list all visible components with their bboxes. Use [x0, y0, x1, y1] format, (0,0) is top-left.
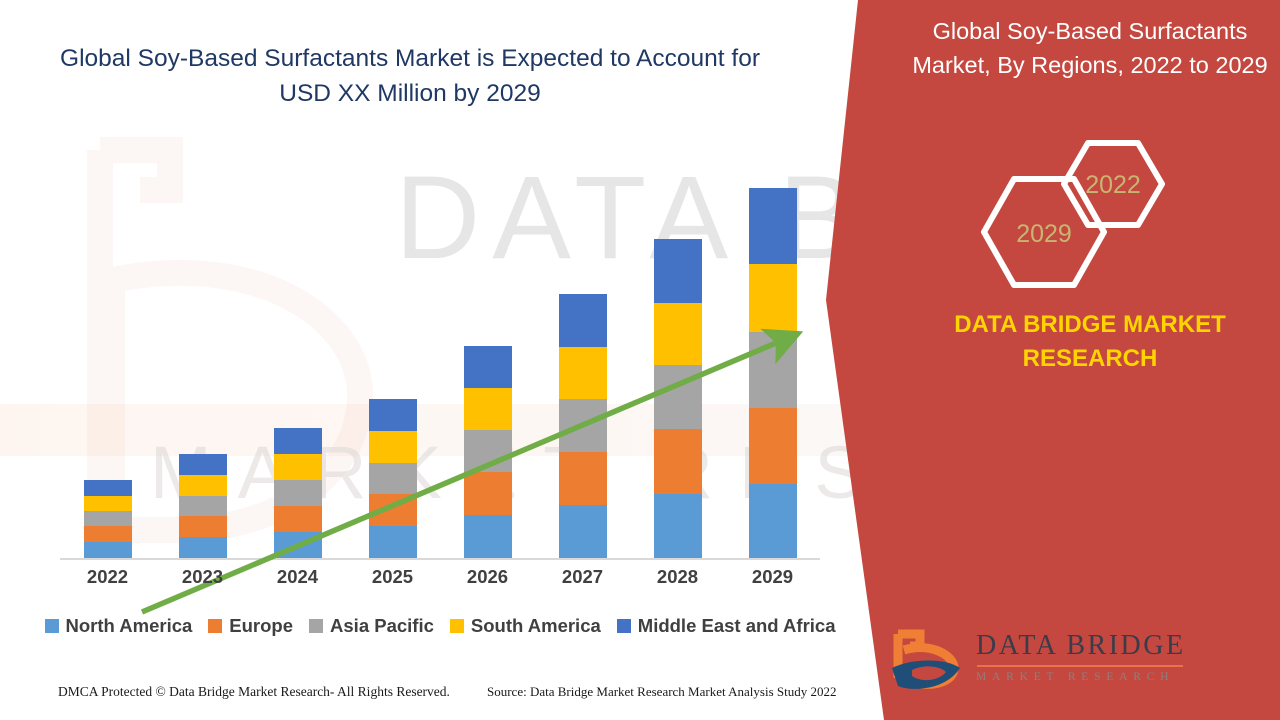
hex-2029-label: 2029 [1016, 220, 1072, 248]
legend-item[interactable]: Middle East and Africa [617, 615, 836, 637]
plot-area [60, 150, 820, 560]
x-label-2024: 2024 [250, 566, 346, 588]
x-label-2023: 2023 [155, 566, 251, 588]
footer: DMCA Protected © Data Bridge Market Rese… [0, 684, 880, 710]
legend-label: Asia Pacific [330, 615, 434, 637]
legend-label: South America [471, 615, 601, 637]
x-label-2027: 2027 [535, 566, 631, 588]
hex-2022-label: 2022 [1085, 171, 1141, 199]
hexagon-badges: 2022 2029 [970, 135, 1190, 300]
x-label-2026: 2026 [440, 566, 536, 588]
legend-item[interactable]: Asia Pacific [309, 615, 434, 637]
legend-item[interactable]: South America [450, 615, 601, 637]
chart-legend: North AmericaEuropeAsia PacificSouth Ame… [0, 615, 880, 637]
legend-item[interactable]: Europe [208, 615, 293, 637]
bar-segment[interactable] [749, 188, 797, 264]
logo-subtitle: MARKET RESEARCH [976, 671, 1186, 683]
growth-arrow-icon [120, 300, 880, 710]
legend-swatch [45, 619, 59, 633]
legend-swatch [309, 619, 323, 633]
company-logo: DATA BRIDGE MARKET RESEARCH [890, 628, 1250, 700]
bar-segment[interactable] [654, 239, 702, 303]
chart-panel: DATA BRIDGE MARKET RESEARCH Global Soy-B… [0, 0, 880, 720]
x-label-2025: 2025 [345, 566, 441, 588]
x-axis-labels: 20222023202420252026202720282029 [60, 566, 820, 596]
legend-swatch [450, 619, 464, 633]
legend-label: Europe [229, 615, 293, 637]
source-note: Source: Data Bridge Market Research Mark… [487, 684, 836, 700]
legend-swatch [617, 619, 631, 633]
legend-swatch [208, 619, 222, 633]
x-label-2029: 2029 [725, 566, 821, 588]
dmca-notice: DMCA Protected © Data Bridge Market Rese… [58, 684, 450, 700]
legend-item[interactable]: North America [45, 615, 193, 637]
legend-label: North America [66, 615, 193, 637]
chart-title: Global Soy-Based Surfactants Market is E… [50, 42, 770, 112]
logo-wordmark: DATA BRIDGE MARKET RESEARCH [976, 632, 1186, 683]
logo-title: DATA BRIDGE [976, 632, 1186, 660]
logo-b-icon [890, 628, 968, 696]
legend-label: Middle East and Africa [638, 615, 836, 637]
panel-title: Global Soy-Based Surfactants Market, By … [898, 14, 1280, 83]
branding-content: Global Soy-Based Surfactants Market, By … [900, 0, 1280, 720]
brand-name: DATA BRIDGE MARKET RESEARCH [900, 308, 1280, 376]
x-label-2028: 2028 [630, 566, 726, 588]
logo-divider [977, 665, 1183, 667]
x-label-2022: 2022 [60, 566, 156, 588]
